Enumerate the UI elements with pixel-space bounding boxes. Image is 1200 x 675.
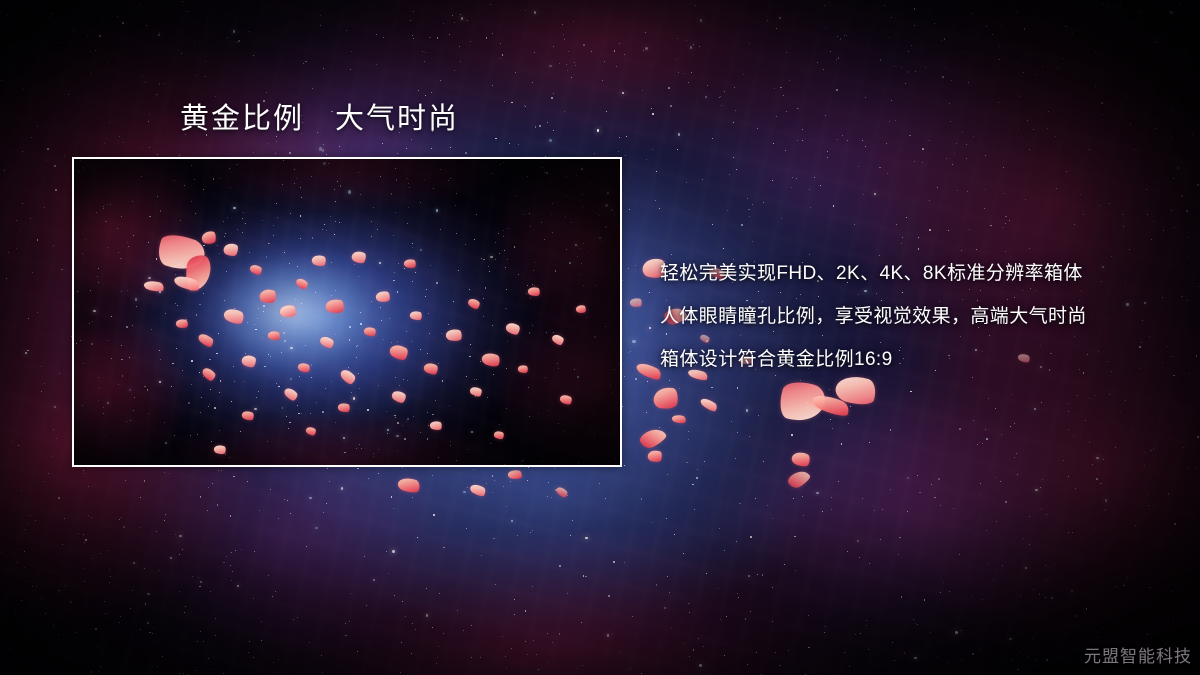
flower-petal [175, 318, 189, 329]
star [736, 541, 737, 542]
star [901, 243, 902, 244]
star [1197, 436, 1199, 438]
star [741, 224, 743, 226]
star [147, 622, 149, 624]
star [547, 662, 548, 663]
star [879, 167, 881, 169]
star [1192, 134, 1193, 135]
star [411, 653, 412, 654]
star [449, 34, 450, 35]
star [952, 164, 953, 165]
star [209, 669, 210, 670]
star [676, 59, 677, 60]
star [652, 522, 653, 523]
star [750, 611, 751, 612]
star [1105, 509, 1106, 510]
star [860, 633, 861, 634]
star [863, 194, 864, 195]
star [30, 218, 32, 220]
star [929, 200, 930, 201]
star [555, 489, 557, 491]
star [1003, 193, 1004, 194]
star [1041, 508, 1043, 510]
star [830, 51, 831, 52]
star [1180, 668, 1181, 669]
star [694, 509, 695, 510]
star [961, 630, 962, 631]
star [90, 671, 92, 673]
star [238, 40, 240, 42]
star [940, 592, 941, 593]
star [85, 539, 87, 541]
star [941, 40, 943, 42]
star [1120, 411, 1121, 412]
star [844, 35, 845, 36]
star [551, 97, 553, 99]
star [205, 61, 207, 63]
star [724, 655, 725, 656]
star [645, 47, 648, 50]
star [772, 180, 774, 182]
star [125, 480, 126, 481]
star [1045, 597, 1046, 598]
star [175, 534, 176, 535]
star [83, 568, 84, 569]
star [836, 89, 838, 91]
star [781, 218, 782, 219]
star [432, 627, 434, 629]
flower-petal [283, 385, 300, 402]
star [688, 82, 689, 83]
frame-petal-field [74, 159, 620, 465]
star [162, 656, 163, 657]
star [731, 421, 732, 422]
star [1001, 434, 1002, 435]
star [612, 634, 613, 635]
star [71, 626, 72, 627]
star [119, 136, 120, 137]
star [823, 69, 824, 70]
star [889, 121, 890, 122]
star [10, 166, 11, 167]
star [908, 51, 909, 52]
star [517, 535, 518, 536]
star [1025, 567, 1027, 569]
star [763, 202, 764, 203]
star [972, 653, 974, 655]
star [692, 484, 694, 486]
star [755, 498, 756, 499]
framed-image [72, 157, 622, 467]
star [536, 654, 537, 655]
star [547, 633, 548, 634]
star [784, 564, 785, 565]
star [21, 549, 22, 550]
flower-petal [339, 367, 358, 386]
star [899, 537, 901, 539]
star [1029, 248, 1030, 249]
star [583, 44, 585, 46]
flower-petal [671, 413, 687, 424]
flower-petal [337, 401, 351, 414]
star [1162, 217, 1163, 218]
star [986, 530, 987, 531]
star [668, 87, 670, 89]
star [1097, 637, 1098, 638]
star [56, 438, 57, 439]
star [433, 514, 435, 516]
star [571, 77, 572, 78]
star [802, 496, 803, 497]
star [425, 52, 426, 53]
star [817, 62, 818, 63]
star [642, 90, 643, 91]
star [196, 75, 198, 77]
star [32, 586, 33, 587]
star [140, 497, 141, 498]
star [1036, 659, 1037, 660]
star [232, 571, 233, 572]
star [109, 582, 110, 583]
page-title: 黄金比例 大气时尚 [180, 102, 459, 136]
star [693, 649, 695, 651]
star [868, 649, 869, 650]
star [495, 138, 497, 140]
star [951, 80, 952, 81]
body-line-3: 箱体设计符合黄金比例16:9 [660, 338, 1180, 381]
star [624, 376, 625, 377]
star [988, 563, 989, 564]
star [830, 419, 831, 420]
star [339, 146, 340, 147]
star [165, 514, 166, 515]
watermark: 元盟智能科技 [1084, 642, 1192, 667]
star [635, 265, 636, 266]
star [1129, 249, 1130, 250]
star [865, 146, 866, 147]
flower-petal [551, 332, 566, 347]
star [914, 8, 916, 10]
star [772, 587, 773, 588]
star [628, 352, 629, 353]
star [431, 92, 432, 93]
star [329, 481, 330, 482]
star [440, 80, 441, 81]
star [664, 607, 666, 609]
star [930, 632, 931, 633]
star [515, 72, 516, 73]
star [273, 662, 274, 663]
star [88, 515, 89, 516]
star [827, 157, 828, 158]
star [157, 666, 158, 667]
star [1169, 534, 1170, 535]
star [913, 619, 914, 620]
star [312, 88, 313, 89]
star [695, 5, 696, 6]
star [495, 584, 496, 585]
star [426, 614, 428, 616]
star [836, 59, 838, 61]
star [691, 72, 692, 73]
star [272, 596, 273, 597]
star [961, 660, 962, 661]
star [599, 483, 600, 484]
star [44, 481, 45, 482]
star [591, 51, 592, 52]
star [70, 601, 72, 603]
star [436, 663, 437, 664]
star [28, 523, 29, 524]
star [321, 655, 322, 656]
star [919, 492, 921, 494]
star [865, 97, 866, 98]
flower-petal [422, 360, 440, 376]
star [626, 136, 627, 137]
star [699, 46, 700, 47]
star [1046, 579, 1047, 580]
star [149, 632, 151, 634]
star [794, 536, 796, 538]
star [1178, 48, 1179, 49]
star [785, 415, 786, 416]
star [319, 147, 322, 150]
star [726, 616, 727, 617]
star [548, 482, 549, 483]
star [679, 388, 680, 389]
star [346, 30, 347, 31]
star [386, 551, 387, 552]
star [12, 441, 13, 442]
star [1147, 494, 1148, 495]
star [723, 248, 724, 249]
star [785, 150, 786, 151]
star [200, 631, 201, 632]
star [157, 154, 158, 155]
star [775, 652, 776, 653]
star [1067, 403, 1068, 404]
star [35, 41, 36, 42]
star [689, 612, 690, 613]
star [652, 149, 653, 150]
star [968, 82, 969, 83]
star [922, 162, 924, 164]
star [688, 603, 690, 605]
star [976, 249, 977, 250]
star [602, 80, 603, 81]
flower-petal [652, 385, 679, 411]
star [1119, 5, 1121, 7]
star [471, 657, 472, 658]
star [1130, 124, 1131, 125]
star [752, 204, 753, 205]
star [31, 137, 32, 138]
star [413, 38, 414, 39]
star [906, 217, 907, 218]
star [53, 625, 54, 626]
star [677, 38, 678, 39]
star [614, 50, 616, 52]
star [1155, 41, 1157, 43]
star [950, 121, 951, 122]
star [689, 656, 690, 657]
star [844, 652, 845, 653]
star [1066, 171, 1067, 172]
star [641, 498, 643, 500]
star [632, 340, 635, 343]
star [688, 431, 689, 432]
body-text-block: 轻松完美实现FHD、2K、4K、8K标准分辨率箱体 人体眼睛瞳孔比例，享受视觉效… [660, 252, 1180, 381]
star [1068, 532, 1070, 534]
star [696, 477, 698, 479]
star [572, 520, 573, 521]
flower-petal [555, 485, 569, 499]
flower-petal [363, 325, 377, 338]
star [506, 506, 507, 507]
star [1164, 599, 1165, 600]
star [1171, 137, 1172, 138]
star [789, 80, 790, 81]
star [18, 445, 19, 446]
star [413, 11, 414, 12]
star [16, 220, 17, 221]
star [1198, 286, 1199, 287]
star [492, 492, 493, 493]
star [1127, 97, 1128, 98]
star [996, 521, 997, 522]
star [509, 143, 510, 144]
star [1036, 74, 1037, 75]
star [1016, 11, 1018, 13]
star [654, 371, 656, 373]
star [26, 581, 27, 582]
star [594, 153, 595, 154]
star [992, 34, 993, 35]
star [1009, 638, 1011, 640]
star [1159, 53, 1160, 54]
star [831, 497, 832, 498]
flower-petal [249, 262, 264, 276]
star [68, 94, 69, 95]
star [839, 403, 840, 404]
star [37, 239, 39, 241]
star [505, 656, 506, 657]
star [1173, 48, 1174, 49]
star [184, 612, 185, 613]
star [58, 634, 59, 635]
framed-image-inner [74, 159, 620, 465]
star [551, 497, 552, 498]
flower-petal [646, 448, 663, 464]
star [797, 140, 798, 141]
star [1063, 460, 1064, 461]
star [686, 40, 687, 41]
star [606, 111, 607, 112]
flower-petal [467, 296, 482, 311]
star [1002, 565, 1003, 566]
star [1074, 224, 1075, 225]
star [1063, 58, 1064, 59]
star [391, 496, 393, 498]
star [1046, 28, 1047, 29]
star [842, 135, 843, 136]
star [985, 155, 986, 156]
star [549, 139, 551, 141]
star [834, 412, 835, 413]
star [270, 489, 271, 490]
flower-petal [445, 327, 463, 342]
star [1186, 210, 1188, 212]
star [1163, 230, 1164, 231]
star [400, 672, 401, 673]
star [179, 591, 180, 592]
star [460, 61, 462, 63]
star [20, 230, 21, 231]
star [1019, 96, 1020, 97]
star [954, 153, 955, 154]
star [457, 610, 458, 611]
star [973, 420, 974, 421]
star [918, 237, 919, 238]
star [169, 473, 170, 474]
star [530, 532, 531, 533]
star [226, 556, 227, 557]
star [955, 631, 958, 634]
star [901, 67, 902, 68]
star [1154, 442, 1155, 443]
star [831, 509, 832, 510]
star [1181, 113, 1182, 114]
star [649, 292, 650, 293]
star [1068, 411, 1069, 412]
star [78, 533, 79, 534]
star [237, 585, 239, 587]
star [1061, 21, 1062, 22]
star [720, 96, 721, 97]
star [55, 189, 57, 191]
flower-petal [493, 429, 505, 441]
star [656, 584, 658, 586]
star [412, 623, 413, 624]
flower-petal [267, 329, 281, 341]
star [383, 37, 384, 38]
star [783, 95, 784, 96]
star [41, 598, 42, 599]
star [492, 475, 494, 477]
star [795, 570, 796, 571]
flower-petal [279, 304, 297, 318]
star [454, 22, 455, 23]
star [1174, 572, 1176, 574]
star [1080, 194, 1081, 195]
star [425, 95, 426, 96]
star [35, 520, 36, 521]
star [575, 65, 576, 66]
star [622, 406, 623, 407]
star [690, 46, 692, 48]
star [53, 571, 54, 572]
star [443, 23, 444, 24]
star [104, 601, 105, 602]
star [323, 68, 324, 69]
star [824, 5, 825, 6]
star [306, 546, 307, 547]
star [671, 627, 672, 628]
star [1042, 66, 1043, 67]
star [990, 225, 992, 227]
flower-petal [201, 365, 217, 382]
star [454, 70, 455, 71]
